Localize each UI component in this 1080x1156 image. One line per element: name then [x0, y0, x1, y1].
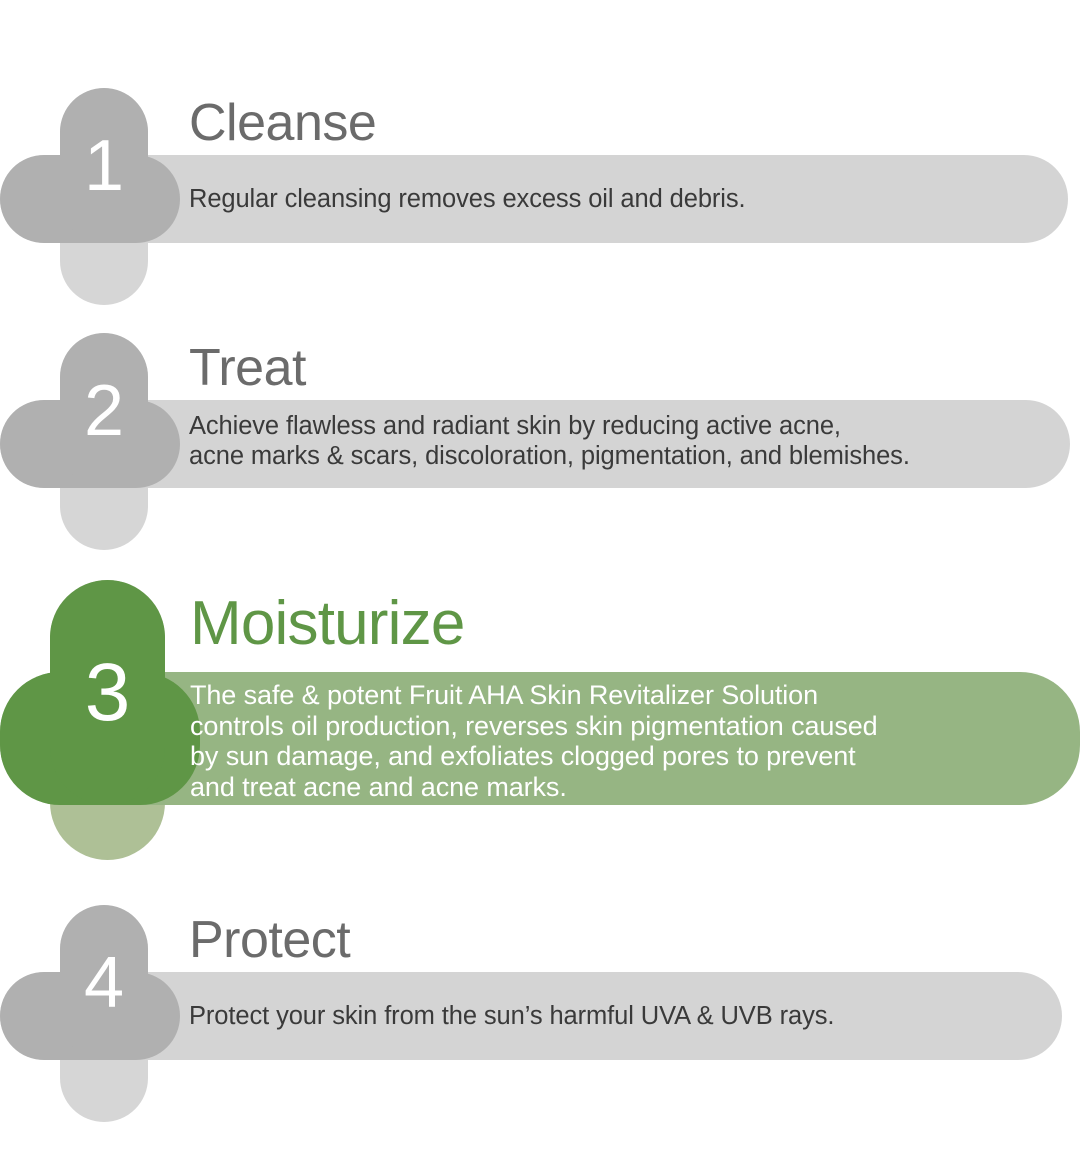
step-body-text: Protect your skin from the sun’s harmful… [189, 1001, 1049, 1031]
step-heading: Moisturize [190, 593, 465, 655]
step-heading: Treat [189, 342, 306, 394]
step-body-text: The safe & potent Fruit AHA Skin Revital… [190, 680, 1070, 802]
step-body-text: Achieve flawless and radiant skin by red… [189, 411, 1059, 471]
step-heading: Protect [189, 914, 350, 966]
step-number: 1 [84, 130, 124, 202]
step-body-text: Regular cleansing removes excess oil and… [189, 184, 1049, 214]
step-number: 2 [84, 375, 124, 447]
step-number: 3 [85, 652, 131, 734]
step-badge: 4 [60, 905, 148, 1060]
step-badge: 2 [60, 333, 148, 488]
step-number: 4 [84, 947, 124, 1019]
step-badge: 1 [60, 88, 148, 243]
skincare-steps-infographic: 1 Cleanse Regular cleansing removes exce… [0, 0, 1080, 1156]
step-item: 4 Protect Protect your skin from the sun… [0, 817, 1080, 1147]
step-badge: 3 [50, 580, 165, 805]
step-heading: Cleanse [189, 97, 376, 149]
